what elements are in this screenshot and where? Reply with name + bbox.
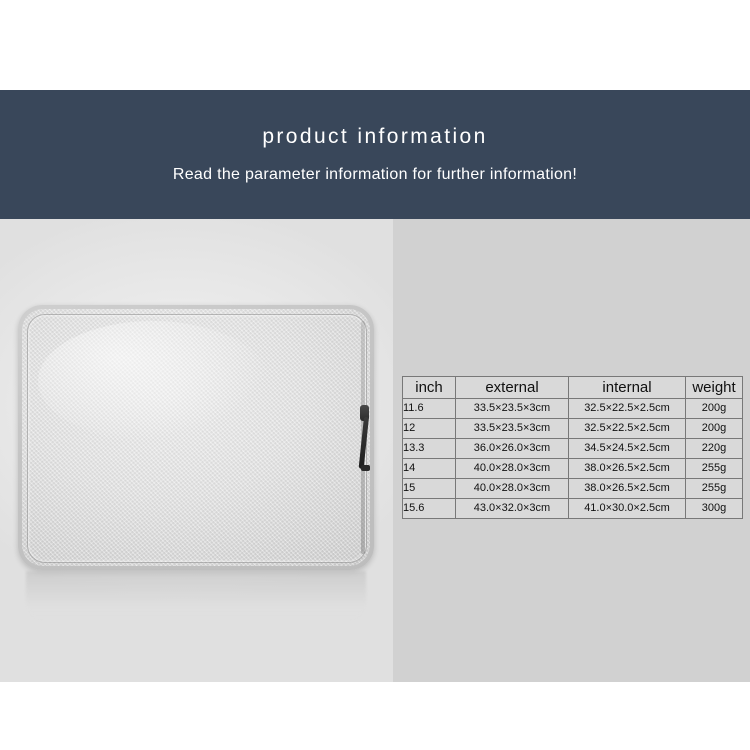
cell-inch: 14 [403, 459, 456, 479]
table-header-row: inch external internal weight [403, 377, 743, 399]
cell-internal: 38.0×26.5×2.5cm [569, 479, 686, 499]
sleeve-reflection [26, 571, 366, 623]
table-row: 15.6 43.0×32.0×3cm 41.0×30.0×2.5cm 300g [403, 499, 743, 519]
sleeve-highlight [38, 321, 268, 441]
cell-inch: 13.3 [403, 439, 456, 459]
cell-internal: 34.5×24.5×2.5cm [569, 439, 686, 459]
cell-weight: 255g [686, 479, 743, 499]
cell-weight: 220g [686, 439, 743, 459]
table-row: 14 40.0×28.0×3cm 38.0×26.5×2.5cm 255g [403, 459, 743, 479]
cell-external: 33.5×23.5×3cm [456, 399, 569, 419]
cell-weight: 300g [686, 499, 743, 519]
table-row: 11.6 33.5×23.5×3cm 32.5×22.5×2.5cm 200g [403, 399, 743, 419]
column-header-external: external [456, 377, 569, 399]
product-photo-panel [0, 219, 393, 682]
bottom-white-margin [0, 682, 750, 750]
table-row: 12 33.5×23.5×3cm 32.5×22.5×2.5cm 200g [403, 419, 743, 439]
specification-table: inch external internal weight 11.6 33.5×… [402, 376, 743, 519]
cell-inch: 12 [403, 419, 456, 439]
cell-inch: 15 [403, 479, 456, 499]
product-information-banner: product information Read the parameter i… [0, 90, 750, 219]
cell-external: 40.0×28.0×3cm [456, 459, 569, 479]
top-white-margin [0, 0, 750, 90]
column-header-weight: weight [686, 377, 743, 399]
product-information-page: product information Read the parameter i… [0, 0, 750, 750]
cell-inch: 11.6 [403, 399, 456, 419]
cell-internal: 32.5×22.5×2.5cm [569, 399, 686, 419]
column-header-inch: inch [403, 377, 456, 399]
cell-external: 36.0×26.0×3cm [456, 439, 569, 459]
sleeve-body [18, 305, 374, 570]
cell-inch: 15.6 [403, 499, 456, 519]
column-header-internal: internal [569, 377, 686, 399]
banner-subtitle: Read the parameter information for furth… [173, 167, 577, 183]
cell-internal: 32.5×22.5×2.5cm [569, 419, 686, 439]
cell-internal: 38.0×26.5×2.5cm [569, 459, 686, 479]
banner-title: product information [262, 126, 487, 147]
product-photo [0, 219, 393, 682]
cell-weight: 200g [686, 399, 743, 419]
cell-external: 43.0×32.0×3cm [456, 499, 569, 519]
laptop-sleeve-image [18, 305, 374, 570]
zipper-pull-tip-icon [361, 465, 370, 471]
table-row: 15 40.0×28.0×3cm 38.0×26.5×2.5cm 255g [403, 479, 743, 499]
cell-internal: 41.0×30.0×2.5cm [569, 499, 686, 519]
cell-weight: 255g [686, 459, 743, 479]
cell-external: 40.0×28.0×3cm [456, 479, 569, 499]
cell-external: 33.5×23.5×3cm [456, 419, 569, 439]
cell-weight: 200g [686, 419, 743, 439]
table-row: 13.3 36.0×26.0×3cm 34.5×24.5×2.5cm 220g [403, 439, 743, 459]
